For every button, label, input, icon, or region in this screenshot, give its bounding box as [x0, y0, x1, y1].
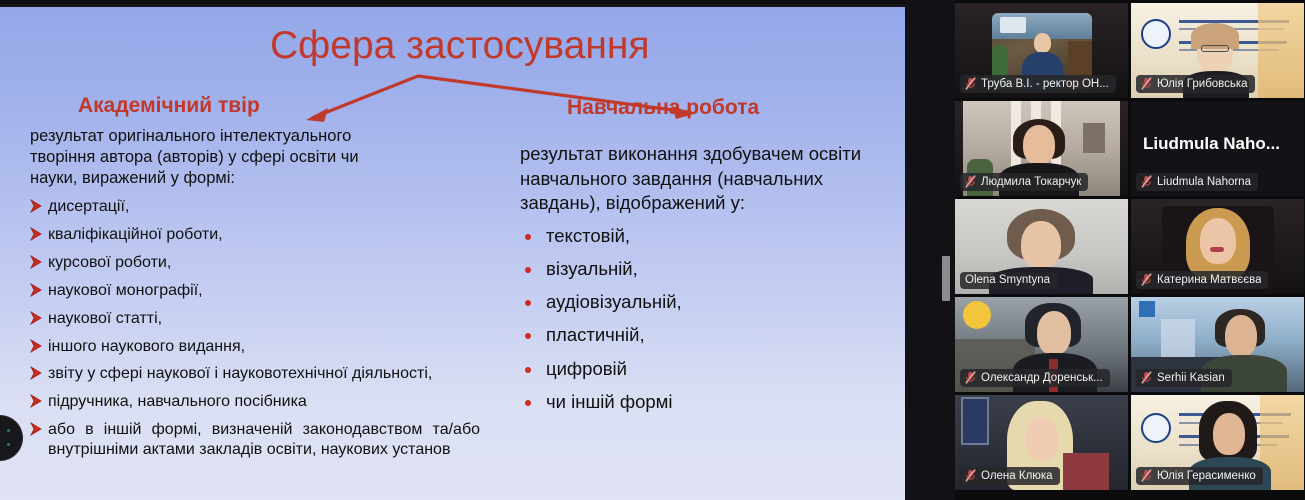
participant-tile-active-speaker[interactable]: Olena Smyntyna [955, 199, 1128, 294]
institute-logo [1141, 413, 1171, 443]
list-item-label: або в іншій формі, визначеній законодавс… [48, 421, 480, 457]
participant-namebar: Liudmula Nahorna [1136, 173, 1258, 191]
floating-avatar-bubble[interactable] [0, 416, 22, 460]
participant-name: Юлія Герасименко [1157, 470, 1256, 482]
list-item: кваліфікаційної роботи, [30, 225, 480, 244]
list-item: курсової роботи, [30, 253, 480, 272]
quality-badge-icon [963, 301, 991, 329]
decor-head [1037, 311, 1071, 355]
right-column-lead: результат виконання здобувачем освіти на… [520, 142, 890, 216]
list-item: чи іншій формі [520, 391, 890, 413]
list-item: наукової монографії, [30, 281, 480, 300]
microphone-muted-icon [965, 371, 976, 384]
status-dot [7, 443, 10, 446]
arrow-bullet-icon [30, 283, 43, 297]
arrow-bullet-icon [30, 199, 43, 213]
arrow-bullet-icon [30, 311, 43, 325]
list-item: або в іншій формі, визначеній законодавс… [30, 420, 480, 459]
participant-name: Liudmula Nahorna [1157, 176, 1251, 188]
list-item: іншого наукового видання, [30, 337, 480, 356]
microphone-muted-icon [965, 469, 976, 482]
participant-tile[interactable]: Serhii Kasian [1131, 297, 1304, 392]
decor-head [1034, 33, 1051, 53]
list-item-label: чи іншій формі [546, 391, 673, 412]
left-column: результат оригінального інтелектуального… [30, 126, 480, 467]
list-item-label: візуальній, [546, 258, 638, 279]
scrollbar-track[interactable] [942, 0, 954, 500]
participant-name: Olena Smyntyna [965, 274, 1050, 286]
left-column-list: дисертації, кваліфікаційної роботи, курс… [30, 197, 480, 459]
participant-namebar: Юлія Грибовська [1136, 75, 1255, 93]
list-item-label: наукової статті, [48, 310, 162, 327]
decor [1083, 123, 1105, 153]
microphone-muted-icon [1141, 175, 1152, 188]
arrow-bullet-icon [30, 339, 43, 353]
participant-display-name: Liudmula Naho... [1143, 134, 1303, 154]
list-item: текстовій, [520, 225, 890, 247]
arrow-bullet-icon [30, 366, 43, 380]
list-item: звіту у сфері наукової і науковотехнічно… [30, 364, 480, 383]
left-column-heading: Академічний твір [78, 94, 260, 118]
microphone-muted-icon [1141, 371, 1152, 384]
list-item-label: звіту у сфері наукової і науковотехнічно… [48, 365, 432, 382]
microphone-muted-icon [1141, 273, 1152, 286]
list-item-label: дисертації, [48, 198, 129, 215]
participant-namebar: Юлія Герасименко [1136, 467, 1263, 485]
institute-logo [1141, 19, 1171, 49]
list-item-label: наукової монографії, [48, 282, 203, 299]
status-dot [7, 429, 10, 432]
list-item: дисертації, [30, 197, 480, 216]
decor-head [1025, 417, 1059, 461]
decor-head [1213, 413, 1245, 455]
list-item-label: пластичній, [546, 324, 645, 345]
arrow-bullet-icon [30, 422, 43, 436]
participant-namebar: Олександр Доренськ... [960, 369, 1110, 387]
decor [1258, 3, 1304, 98]
participant-name: Труба В.І. - ректор ОН... [981, 78, 1109, 90]
list-item-label: цифровій [546, 358, 627, 379]
right-column-heading: Навчальна робота [567, 96, 759, 120]
decor-head [1200, 218, 1236, 264]
arrow-bullet-icon [30, 227, 43, 241]
decor-head [1021, 221, 1061, 269]
left-lead-line-3: науки, виражений у формі: [30, 168, 480, 189]
participant-name: Юлія Грибовська [1157, 78, 1248, 90]
grid-gutter [905, 0, 955, 500]
participant-name: Людмила Токарчук [981, 176, 1081, 188]
list-item: цифровій [520, 358, 890, 380]
decor-head [1225, 315, 1257, 357]
participant-tile[interactable]: Олександр Доренськ... [955, 297, 1128, 392]
microphone-muted-icon [965, 175, 976, 188]
list-item: пластичній, [520, 324, 890, 346]
participant-tile[interactable]: Катерина Матвєєва [1131, 199, 1304, 294]
left-lead-line-1: результат оригінального інтелектуального [30, 126, 480, 147]
list-item-label: підручника, навчального посібника [48, 393, 307, 410]
decor-glasses [1201, 45, 1229, 52]
scrollbar-thumb[interactable] [942, 256, 950, 301]
participant-name: Олександр Доренськ... [981, 372, 1103, 384]
participant-namebar: Олена Клюка [960, 467, 1060, 485]
decor-lips [1210, 247, 1224, 252]
decor-head [1023, 125, 1055, 165]
decor-poster [961, 397, 989, 445]
participant-namebar: Olena Smyntyna [960, 272, 1057, 289]
arrow-bullet-icon [30, 394, 43, 408]
list-item: наукової статті, [30, 309, 480, 328]
participant-name: Serhii Kasian [1157, 372, 1225, 384]
left-column-lead: результат оригінального інтелектуального… [30, 126, 480, 189]
microphone-muted-icon [1141, 469, 1152, 482]
list-item-label: курсової роботи, [48, 254, 171, 271]
arrow-bullet-icon [30, 255, 43, 269]
participant-tile[interactable]: Людмила Токарчук [955, 101, 1128, 196]
shared-slide: Сфера застосування Академічний твір Навч… [0, 4, 905, 500]
decor-torso [1063, 453, 1109, 490]
participant-namebar: Катерина Матвєєва [1136, 271, 1268, 289]
participant-tile[interactable]: Юлія Герасименко [1131, 395, 1304, 490]
participant-tile[interactable]: Юлія Грибовська [1131, 3, 1304, 98]
participant-namebar: Serhii Kasian [1136, 369, 1232, 387]
right-column: результат виконання здобувачем освіти на… [520, 142, 890, 424]
participant-tile[interactable]: Труба В.І. - ректор ОН... [955, 3, 1128, 98]
participant-grid: Труба В.І. - ректор ОН... Юлія Грибовськ… [955, 0, 1305, 500]
list-item-label: кваліфікаційної роботи, [48, 226, 223, 243]
participant-tile[interactable]: Liudmula Naho... Liudmula Nahorna [1131, 101, 1304, 196]
list-item: візуальній, [520, 258, 890, 280]
list-item-label: аудіовізуальній, [546, 291, 682, 312]
university-logo [1139, 301, 1155, 317]
list-item-label: текстовій, [546, 225, 630, 246]
participant-name: Катерина Матвєєва [1157, 274, 1261, 286]
participant-tile[interactable]: Олена Клюка [955, 395, 1128, 490]
left-lead-line-2: творіння автора (авторів) у сфері освіти… [30, 147, 480, 168]
list-item-label: іншого наукового видання, [48, 338, 245, 355]
list-item: аудіовізуальній, [520, 291, 890, 313]
slide-title: Сфера застосування [270, 24, 650, 68]
right-column-list: текстовій, візуальній, аудіовізуальній, … [520, 225, 890, 413]
participant-namebar: Труба В.І. - ректор ОН... [960, 75, 1116, 93]
participant-name: Олена Клюка [981, 470, 1053, 482]
video-conference-screen: Сфера застосування Академічний твір Навч… [0, 0, 1305, 500]
participant-namebar: Людмила Токарчук [960, 173, 1088, 191]
list-item: підручника, навчального посібника [30, 392, 480, 411]
microphone-muted-icon [1141, 77, 1152, 90]
decor [1000, 17, 1026, 33]
microphone-muted-icon [965, 77, 976, 90]
